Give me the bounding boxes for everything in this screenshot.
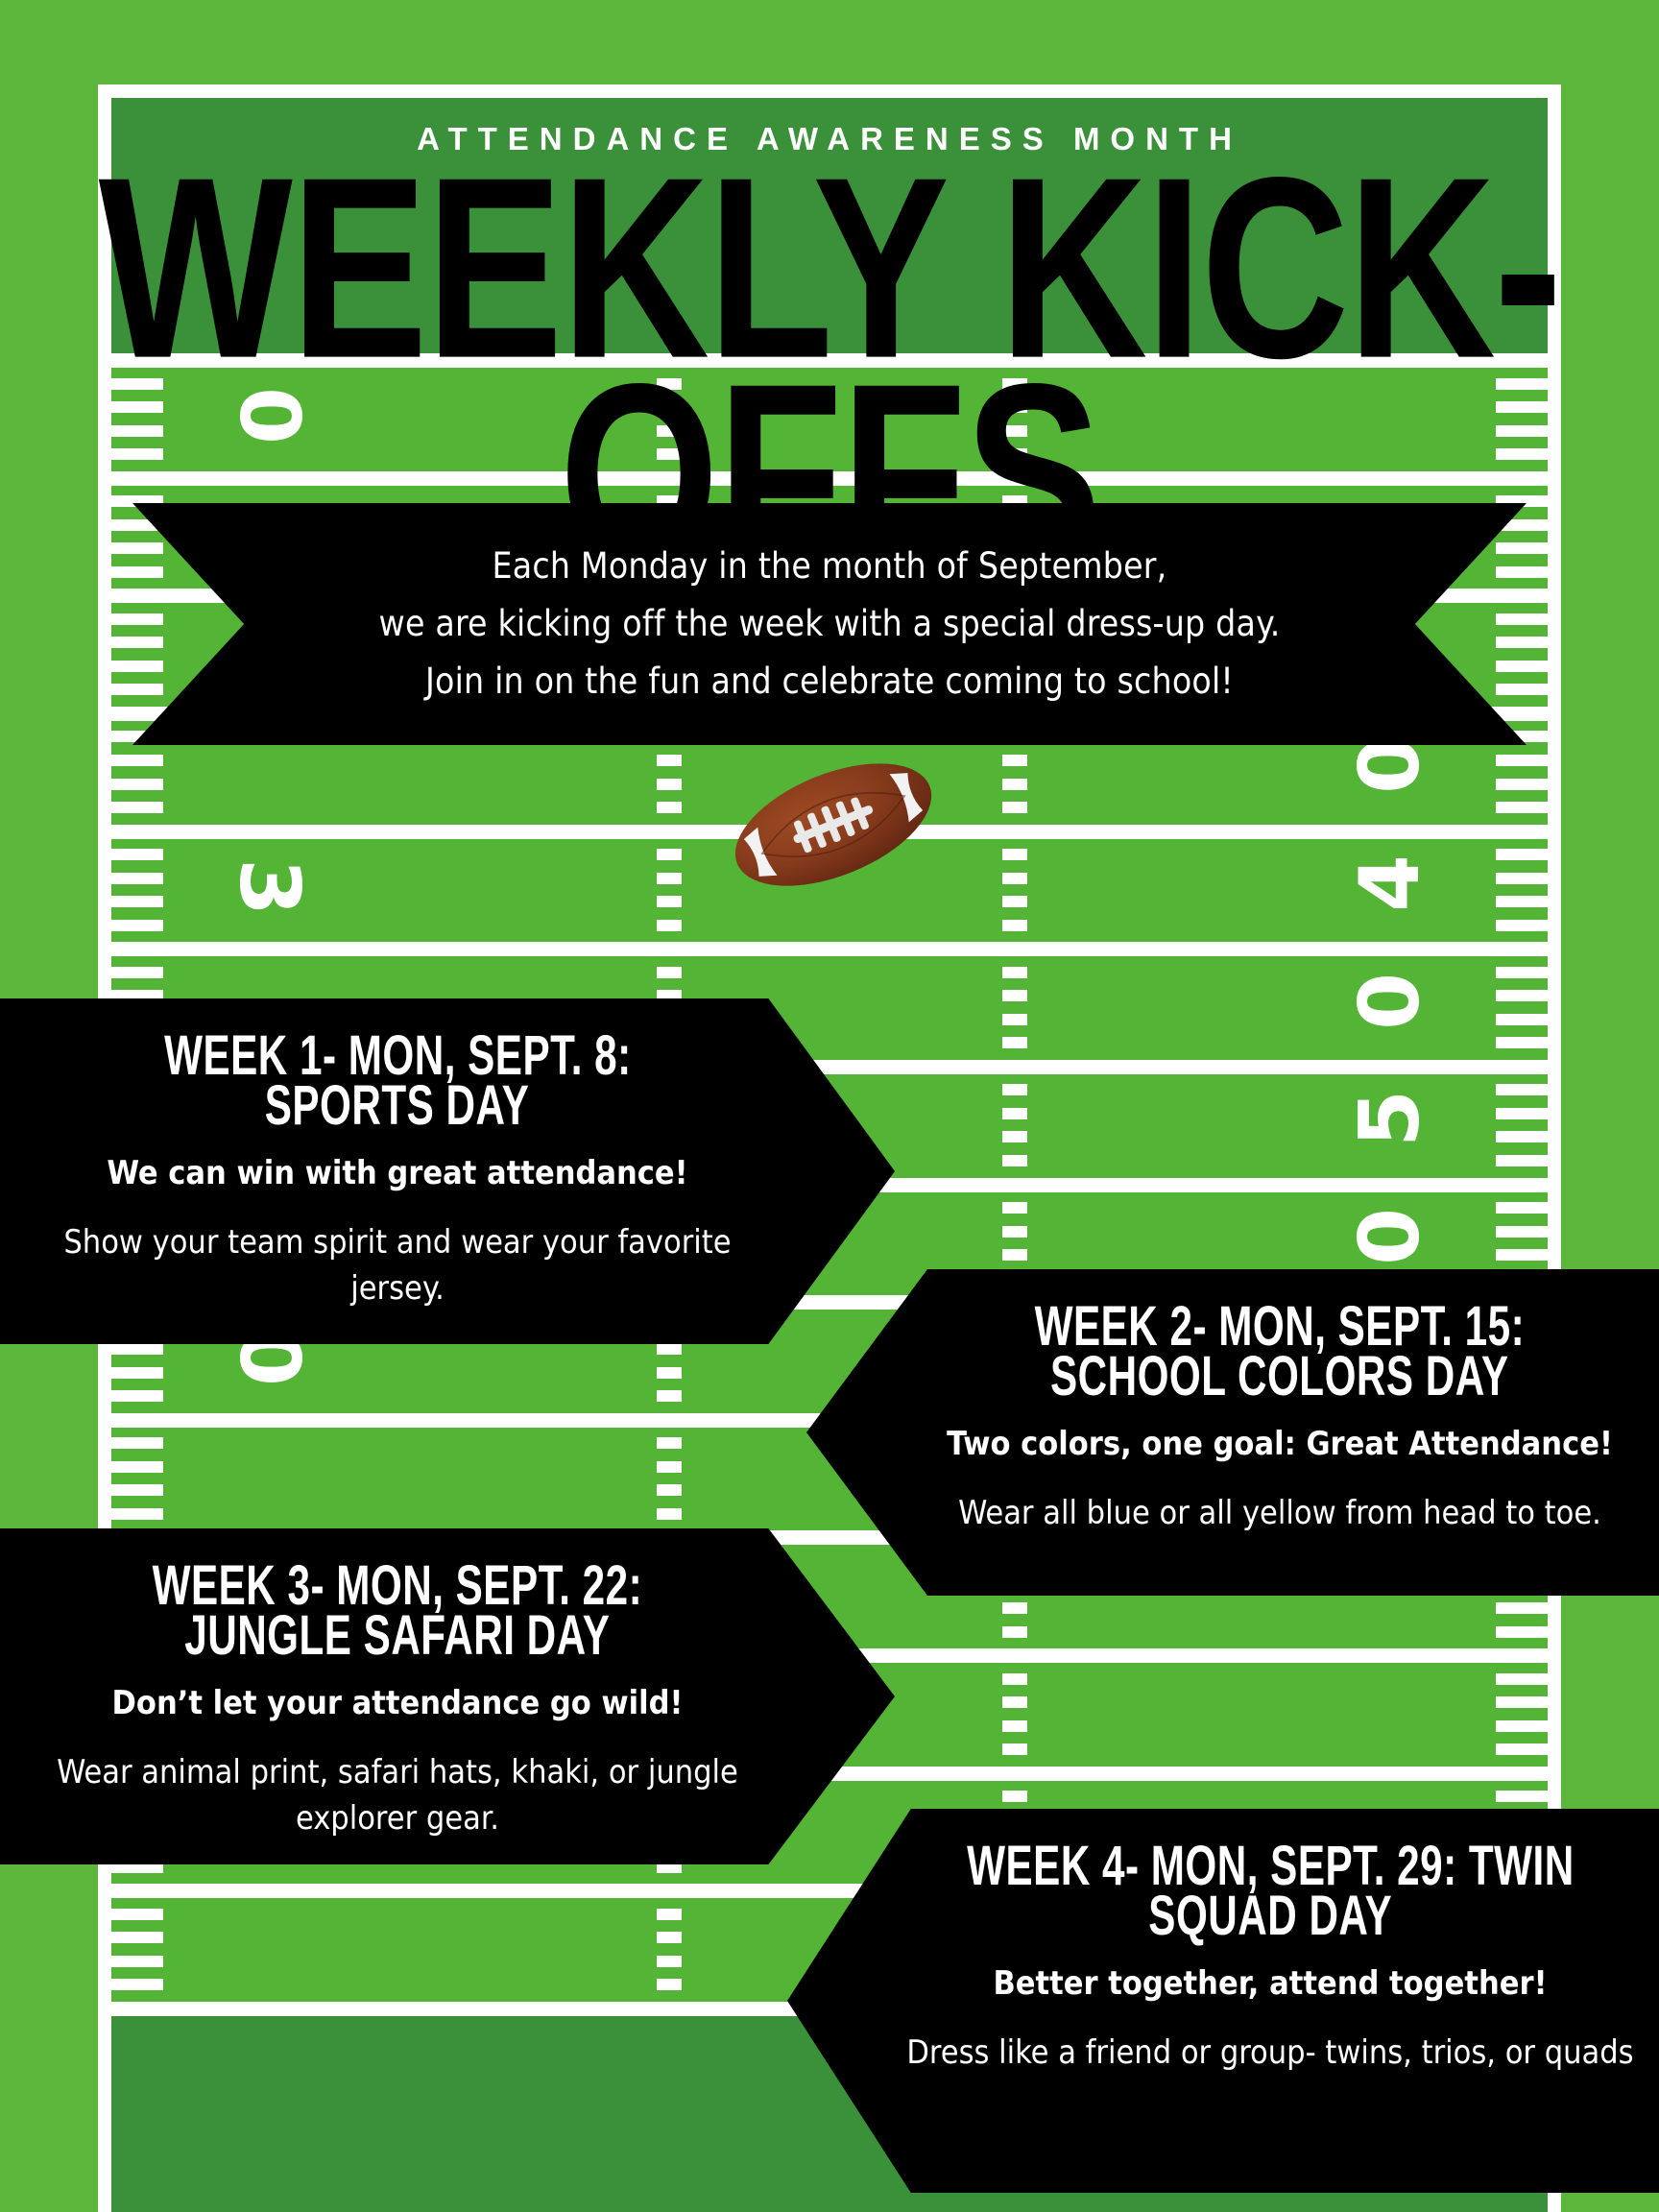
hash-mark — [657, 896, 682, 907]
yard-number: 0 — [1349, 1208, 1431, 1269]
hash-mark — [1002, 802, 1027, 813]
hash-mark — [1496, 1084, 1548, 1095]
hash-mark — [1002, 849, 1027, 860]
page-title: WEEKLY KICK-OFFS — [42, 165, 1617, 488]
week-3-title-line-2: JUNGLE SAFARI DAY — [184, 1603, 610, 1670]
hash-mark — [1002, 1014, 1027, 1025]
hash-mark — [1496, 849, 1548, 860]
hash-mark — [657, 1932, 682, 1943]
hash-mark — [1496, 684, 1548, 695]
hash-mark — [657, 1461, 682, 1473]
hash-mark — [657, 1367, 682, 1379]
hash-mark — [1496, 802, 1548, 813]
hash-mark — [657, 755, 682, 766]
week-2-title: WEEK 2- MON, SEPT. 15: SCHOOL COLORS DAY — [922, 1294, 1638, 1394]
yard-number: 0 — [1349, 736, 1431, 798]
intro-line-2: we are kicking off the week with a speci… — [379, 595, 1281, 653]
week-1-description: Show your team spirit and wear your favo… — [25, 1219, 770, 1312]
hash-mark — [1002, 896, 1027, 907]
hash-mark — [657, 779, 682, 790]
hash-mark — [657, 873, 682, 884]
hash-mark — [111, 661, 163, 672]
hash-mark — [1496, 1791, 1548, 1802]
hash-mark — [1002, 1155, 1027, 1166]
hash-mark — [1496, 1037, 1548, 1048]
week-2-slogan: Two colors, one goal: Great Attendance! — [922, 1423, 1638, 1465]
hash-mark — [111, 1343, 163, 1355]
hash-mark — [111, 896, 163, 907]
hash-mark — [1496, 1131, 1548, 1142]
hash-mark — [1002, 755, 1027, 766]
week-1-card[interactable]: WEEK 1- MON, SEPT. 8: SPORTS DAY We can … — [0, 998, 895, 1344]
hash-mark — [657, 967, 682, 978]
week-2-description: Wear all blue or all yellow from head to… — [922, 1490, 1638, 1536]
hash-mark — [1002, 1226, 1027, 1238]
week-4-description: Dress like a friend or group- twins, tri… — [902, 2030, 1638, 2076]
hash-mark — [1002, 1037, 1027, 1048]
hash-mark — [1496, 637, 1548, 648]
hash-mark — [1496, 990, 1548, 1001]
hash-mark — [111, 613, 163, 625]
hash-mark — [1002, 1673, 1027, 1685]
intro-line-3: Join in on the fun and celebrate coming … — [425, 653, 1234, 710]
hash-mark — [1496, 1696, 1548, 1708]
hash-mark — [1002, 1791, 1027, 1802]
hash-mark — [111, 1909, 163, 1920]
hash-mark — [657, 1508, 682, 1520]
hash-mark — [1496, 896, 1548, 907]
hash-mark — [657, 802, 682, 813]
week-2-card[interactable]: WEEK 2- MON, SEPT. 15: SCHOOL COLORS DAY… — [806, 1269, 1659, 1596]
hash-mark — [657, 1979, 682, 1990]
hash-mark — [111, 1461, 163, 1473]
hash-mark — [1496, 1720, 1548, 1732]
hash-mark — [1002, 1108, 1027, 1119]
hash-mark — [1002, 1696, 1027, 1708]
hash-mark — [111, 873, 163, 884]
hash-mark — [111, 967, 163, 978]
hash-mark — [1002, 1131, 1027, 1142]
hash-mark — [1002, 1602, 1027, 1614]
hash-mark — [657, 1956, 682, 1967]
hash-mark — [1002, 779, 1027, 790]
hash-mark — [1002, 873, 1027, 884]
week-3-slogan: Don’t let your attendance go wild! — [25, 1682, 770, 1724]
hash-mark — [111, 1956, 163, 1967]
hash-mark — [111, 779, 163, 790]
hash-mark — [1496, 1673, 1548, 1685]
hash-mark — [111, 849, 163, 860]
hash-mark — [1496, 755, 1548, 766]
hash-mark — [1002, 920, 1027, 931]
week-1-title-line-2: SPORTS DAY — [265, 1073, 530, 1140]
hash-mark — [111, 684, 163, 695]
hash-mark — [111, 1508, 163, 1520]
intro-ribbon: Each Monday in the month of September, w… — [132, 503, 1527, 745]
hash-mark — [111, 1979, 163, 1990]
hash-mark — [1496, 661, 1548, 672]
hash-mark — [1002, 1626, 1027, 1638]
week-4-card[interactable]: WEEK 4- MON, SEPT. 29: TWIN SQUAD DAY Be… — [787, 1809, 1659, 2193]
hash-mark — [1496, 1602, 1548, 1614]
week-4-title-line-2: SQUAD DAY — [1148, 1884, 1392, 1950]
hash-mark — [1002, 1743, 1027, 1755]
hash-mark — [1496, 1249, 1548, 1261]
hash-mark — [1002, 1720, 1027, 1732]
hash-mark — [1496, 1155, 1548, 1166]
hash-mark — [1002, 990, 1027, 1001]
hash-mark — [111, 1390, 163, 1402]
hash-mark — [111, 637, 163, 648]
hash-mark — [657, 1909, 682, 1920]
hash-mark — [111, 755, 163, 766]
hash-mark — [657, 849, 682, 860]
hash-mark — [111, 920, 163, 931]
hash-mark — [1496, 873, 1548, 884]
hash-mark — [1002, 1249, 1027, 1261]
hash-mark — [1496, 967, 1548, 978]
hash-mark — [657, 1390, 682, 1402]
yard-number: 0 — [1349, 973, 1431, 1034]
week-1-title: WEEK 1- MON, SEPT. 8: SPORTS DAY — [25, 1023, 770, 1123]
hash-mark — [657, 1437, 682, 1449]
hash-mark — [111, 802, 163, 813]
hash-mark — [1496, 1743, 1548, 1755]
yard-number: 3 — [228, 854, 310, 916]
hash-mark — [1002, 1084, 1027, 1095]
yard-number: 5 — [1349, 1090, 1431, 1151]
week-4-title: WEEK 4- MON, SEPT. 29: TWIN SQUAD DAY — [902, 1834, 1638, 1934]
hash-mark — [1496, 1108, 1548, 1119]
hash-mark — [1002, 967, 1027, 978]
hash-mark — [1496, 1014, 1548, 1025]
hash-mark — [111, 1932, 163, 1943]
hash-mark — [657, 1484, 682, 1496]
hash-mark — [1496, 1626, 1548, 1638]
hash-mark — [1496, 920, 1548, 931]
hash-mark — [657, 1343, 682, 1355]
intro-line-1: Each Monday in the month of September, — [493, 538, 1167, 595]
week-2-title-line-2: SCHOOL COLORS DAY — [1050, 1344, 1509, 1410]
week-1-slogan: We can win with great attendance! — [25, 1152, 770, 1194]
hash-mark — [1496, 779, 1548, 790]
hash-mark — [1002, 1202, 1027, 1214]
hash-mark — [111, 1484, 163, 1496]
hash-mark — [1496, 613, 1548, 625]
yard-line — [111, 942, 1548, 956]
week-3-card[interactable]: WEEK 3- MON, SEPT. 22: JUNGLE SAFARI DAY… — [0, 1528, 895, 1864]
hash-mark — [1496, 1202, 1548, 1214]
week-3-title: WEEK 3- MON, SEPT. 22: JUNGLE SAFARI DAY — [25, 1553, 770, 1653]
week-4-slogan: Better together, attend together! — [902, 1962, 1638, 2005]
hash-mark — [1496, 1226, 1548, 1238]
hash-mark — [111, 1367, 163, 1379]
week-3-description: Wear animal print, safari hats, khaki, o… — [25, 1749, 770, 1842]
yard-number: 4 — [1349, 854, 1431, 916]
hash-mark — [657, 920, 682, 931]
hash-mark — [111, 1437, 163, 1449]
